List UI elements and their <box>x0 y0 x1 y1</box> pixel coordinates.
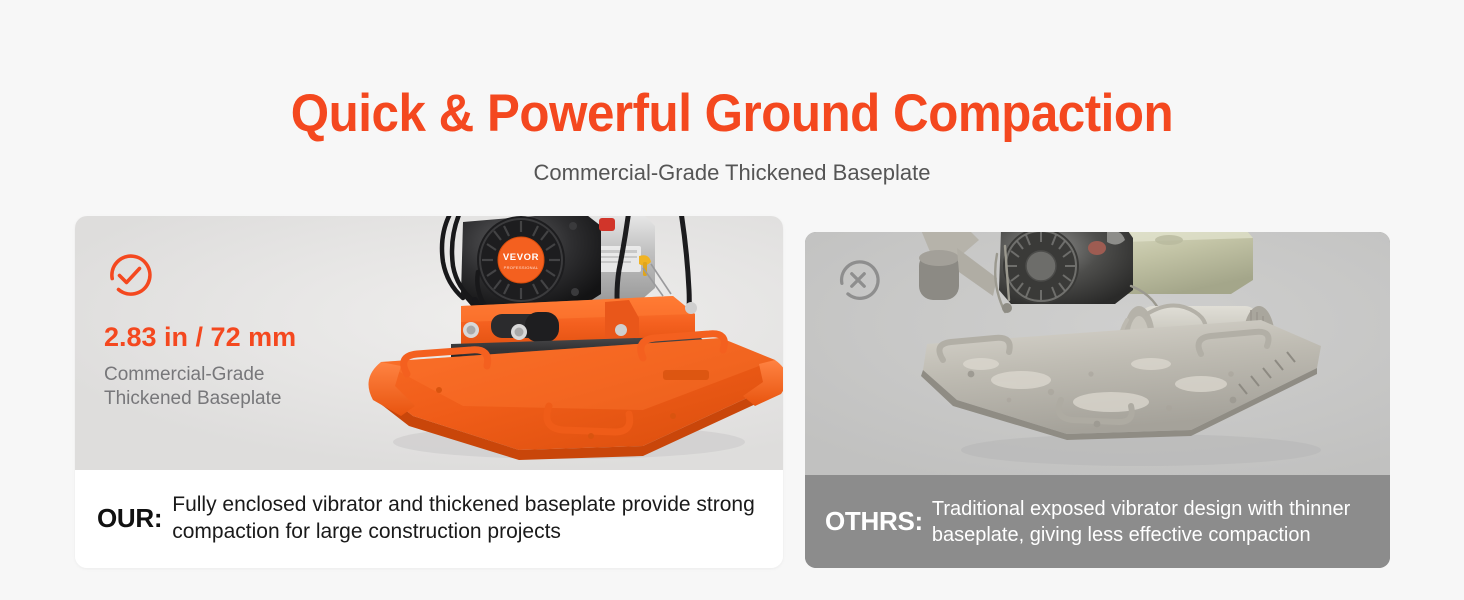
check-circle-icon <box>104 250 154 300</box>
svg-text:PROFESSIONAL: PROFESSIONAL <box>504 265 539 270</box>
our-caption-text: Fully enclosed vibrator and thickened ba… <box>172 492 757 546</box>
others-caption-strip: OTHRS: Traditional exposed vibrator desi… <box>805 475 1390 568</box>
page-subtitle: Commercial-Grade Thickened Baseplate <box>0 142 1464 186</box>
handle-arm <box>919 232 997 300</box>
our-product-card: VEVOR PROFESSIONAL <box>75 216 783 568</box>
page-title: Quick & Powerful Ground Compaction <box>51 86 1413 142</box>
our-spec-desc-line1: Commercial-Grade <box>104 364 264 385</box>
others-caption-text: Traditional exposed vibrator design with… <box>932 496 1374 548</box>
others-tag-label: OTHRS: <box>825 506 932 537</box>
x-circle-icon <box>834 256 882 304</box>
competitor-plate-compactor-image <box>901 232 1371 475</box>
others-icon-wrap <box>834 256 882 304</box>
comparison-cards: VEVOR PROFESSIONAL <box>75 216 1390 568</box>
banner-header: Quick & Powerful Ground Compaction Comme… <box>0 0 1464 186</box>
our-product-photo: VEVOR PROFESSIONAL <box>75 216 783 470</box>
svg-text:VEVOR: VEVOR <box>503 252 539 263</box>
our-spec-desc-line2: Thickened Baseplate <box>104 388 281 409</box>
our-tag-label: OUR: <box>97 503 172 534</box>
our-spec-desc: Commercial-Grade Thickened Baseplate <box>104 353 384 412</box>
others-product-photo <box>805 232 1390 475</box>
orange-plate-compactor-image: VEVOR PROFESSIONAL <box>343 216 783 470</box>
others-product-card: OTHRS: Traditional exposed vibrator desi… <box>805 232 1390 568</box>
our-spec-value: 2.83 in / 72 mm <box>104 300 384 353</box>
our-spec-block: 2.83 in / 72 mm Commercial-Grade Thicken… <box>104 250 384 411</box>
our-caption-strip: OUR: Fully enclosed vibrator and thicken… <box>75 470 783 568</box>
